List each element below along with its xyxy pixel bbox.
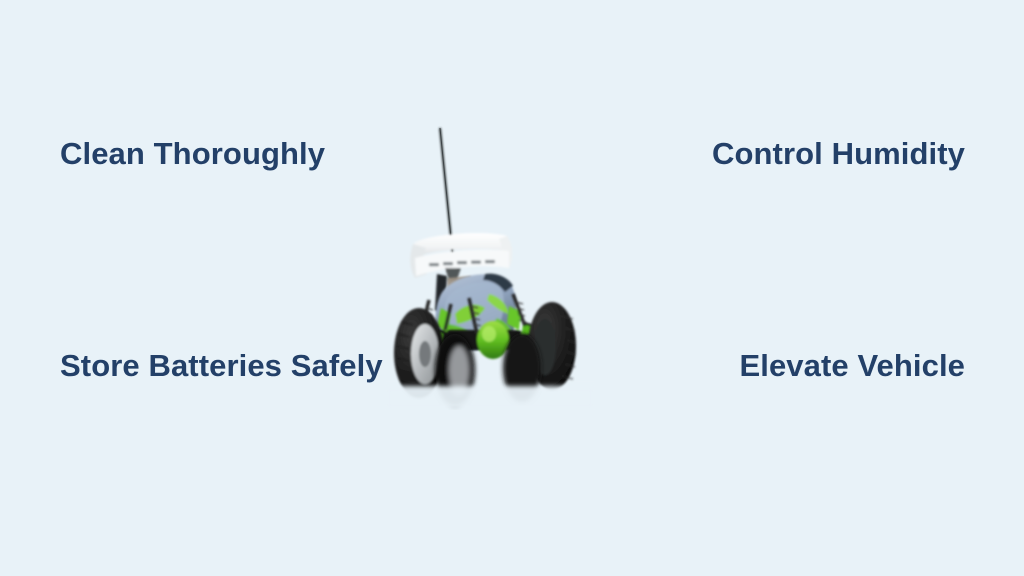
- wheel-rear-left: [394, 308, 444, 398]
- label-store-batteries-safely: Store Batteries Safely: [60, 342, 390, 389]
- slide-canvas: Clean Thoroughly Control Humidity Store …: [0, 0, 1024, 576]
- rc-buggy-image: [385, 118, 595, 410]
- label-clean-thoroughly: Clean Thoroughly: [60, 130, 325, 177]
- rear-wing: [410, 233, 512, 280]
- label-elevate-vehicle: Elevate Vehicle: [739, 342, 965, 389]
- label-control-humidity: Control Humidity: [712, 130, 965, 177]
